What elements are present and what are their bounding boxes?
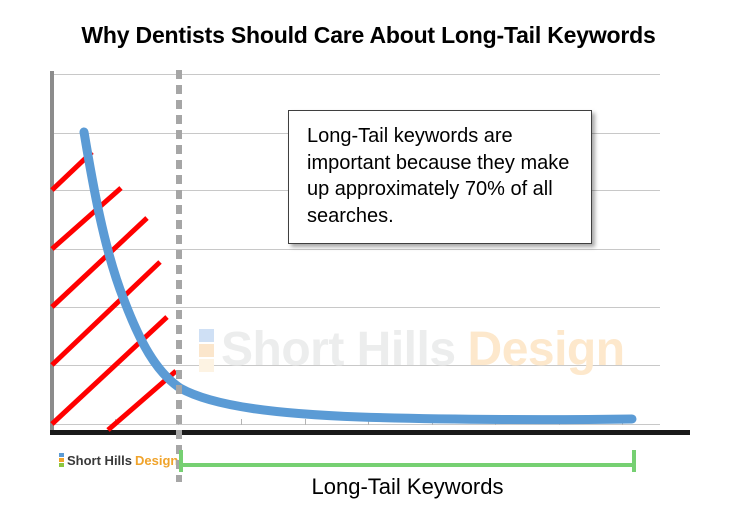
long-tail-curve [0, 0, 737, 531]
callout-box: Long-Tail keywords are important because… [288, 110, 592, 244]
chart-image: Why Dentists Should Care About Long-Tail… [0, 0, 737, 531]
long-tail-bracket [179, 463, 636, 467]
bracket-label: Long-Tail Keywords [179, 474, 636, 500]
callout-text: Long-Tail keywords are important because… [307, 123, 577, 229]
brand-text-secondary: Design [135, 454, 178, 467]
bracket-cap-left [179, 450, 183, 472]
brand-logo-mark-icon [59, 453, 64, 467]
brand-logo: Short Hills Design [59, 453, 178, 467]
head-tail-divider [176, 70, 182, 482]
brand-text-primary: Short Hills [67, 454, 132, 467]
bracket-cap-right [632, 450, 636, 472]
